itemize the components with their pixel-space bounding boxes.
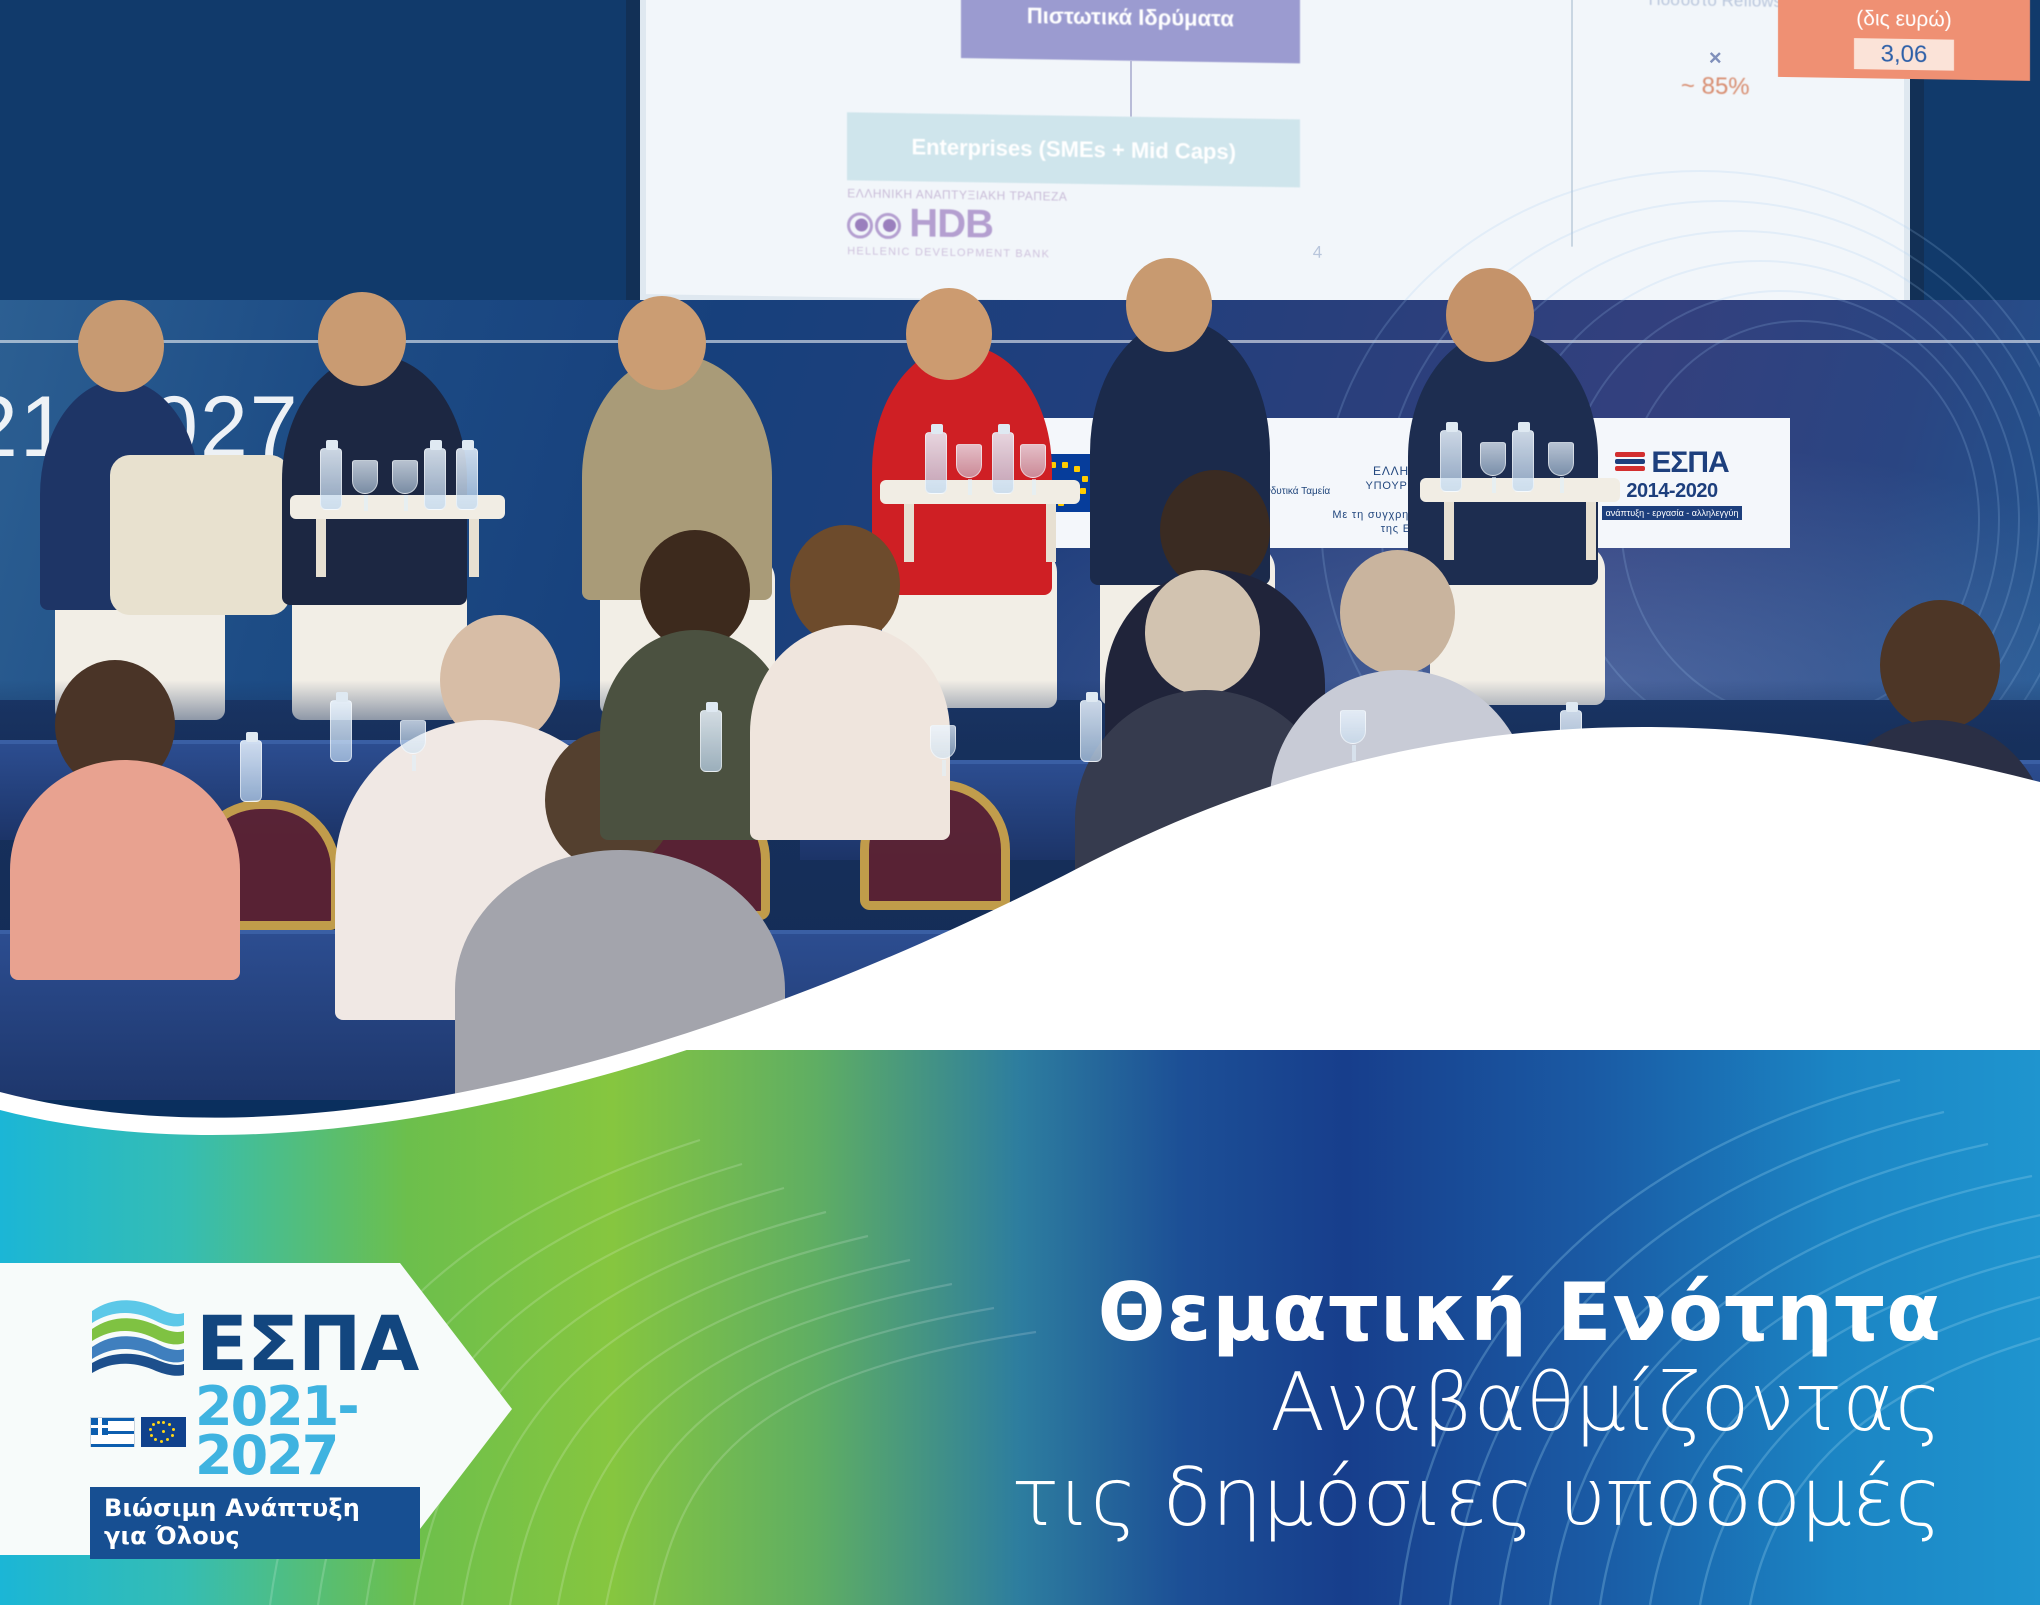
panel-side-table [880, 480, 1080, 504]
panel-speaker-head [318, 292, 406, 386]
espa-logo-tagline: Βιώσιμη Ανάπτυξη για Όλους [90, 1487, 420, 1559]
slide-connector-arrow [1130, 61, 1132, 117]
conference-photo: Πιστωτικά Ιδρύματα Enterprises (SMEs + M… [0, 0, 2040, 1100]
slide-page-number: 4 [1313, 243, 1322, 263]
panel-speaker-head [1446, 268, 1534, 362]
panel-speaker-head [906, 288, 992, 380]
hdb-logo-mark [847, 200, 903, 246]
hdb-logo: ΕΛΛΗΝΙΚΗ ΑΝΑΠΤΥΞΙΑΚΗ ΤΡΑΠΕΖΑ HDB HELLENI… [847, 186, 1174, 262]
audience-person [10, 760, 240, 980]
poster-title: Θεματική Ενότητα Αναβαθμίζοντας τις δημό… [742, 1270, 1942, 1545]
slide-orange-value: 3,06 [1854, 38, 1954, 71]
wall-espa-bars-icon [1615, 452, 1645, 473]
espa-logo-years: 2021-2027 [195, 1383, 420, 1480]
espa-logo-name: ΕΣΠΑ [196, 1312, 418, 1377]
espa-event-poster: Πιστωτικά Ιδρύματα Enterprises (SMEs + M… [0, 0, 2040, 1605]
espa-waves-icon [90, 1295, 186, 1377]
slide-box-credit-institutions: Πιστωτικά Ιδρύματα [961, 0, 1301, 63]
audience-head [1880, 600, 2000, 730]
panel-speaker-lap [110, 455, 290, 615]
poster-title-line1: Θεματική Ενότητα [742, 1270, 1942, 1356]
audience-person [1820, 720, 2040, 970]
wall-espa-name: ΕΣΠΑ [1651, 446, 1728, 480]
hdb-logo-name: HDB [847, 200, 1174, 250]
slide-box-enterprises: Enterprises (SMEs + Mid Caps) [847, 112, 1300, 187]
panel-speaker-head [78, 300, 164, 392]
greek-flag-icon [90, 1417, 135, 1447]
audience-head [1340, 550, 1455, 675]
panel-speaker-head [618, 296, 706, 390]
audience-person [1270, 670, 1530, 930]
slide-orange-subtitle: (δις ευρώ) [1778, 4, 2030, 35]
audience-person [750, 625, 950, 840]
eu-flag-icon [141, 1417, 186, 1447]
audience-area [0, 680, 2040, 1100]
poster-title-line3: τις δημόσιες υποδομές [742, 1451, 1942, 1545]
espa-logo-flags [90, 1417, 186, 1447]
audience-head [1145, 570, 1260, 695]
poster-title-line2: Αναβαθμίζοντας [742, 1356, 1942, 1450]
panel-speaker-head [1126, 258, 1212, 352]
wall-espa-tagline: ανάπτυξη - εργασία - αλληλεγγύη [1602, 506, 1743, 520]
slide-orange-metric-box: ΕΠΙΣΤΡΟΦΕΣ ΠΟΡΩΝ ΣΤΟ ΠΔΕ (δις ευρώ) 3,06 [1778, 0, 2030, 81]
espa-logo: ΕΣΠΑ 2021-2027 Βιώσιμη Ανάπτυξη για Όλου… [90, 1295, 420, 1525]
